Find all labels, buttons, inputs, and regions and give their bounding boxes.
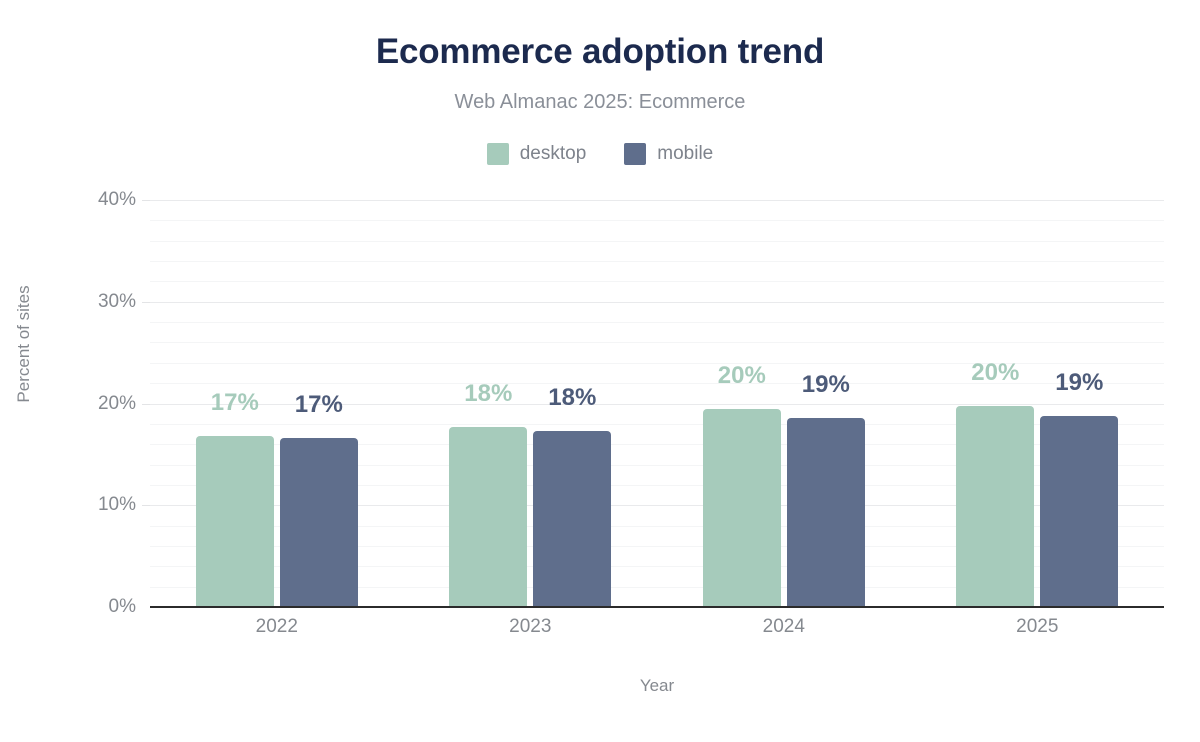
y-tick-label-20: 20% bbox=[26, 393, 136, 415]
bar-desktop-2024[interactable] bbox=[703, 409, 781, 607]
legend-label-mobile: mobile bbox=[657, 143, 713, 165]
bar-mobile-2025[interactable] bbox=[1040, 416, 1118, 607]
x-tick-label-2023: 2023 bbox=[509, 616, 551, 638]
gridline-major-30 bbox=[150, 302, 1164, 303]
bar-mobile-2023[interactable] bbox=[533, 431, 611, 607]
gridline-minor-32 bbox=[150, 281, 1164, 282]
chart-title: Ecommerce adoption trend bbox=[0, 32, 1200, 72]
x-axis-title: Year bbox=[150, 676, 1164, 696]
chart-subtitle: Web Almanac 2025: Ecommerce bbox=[0, 91, 1200, 114]
bar-desktop-2025[interactable] bbox=[956, 406, 1034, 608]
y-tick-label-40: 40% bbox=[26, 189, 136, 211]
gridline-minor-36 bbox=[150, 241, 1164, 242]
y-tick-label-10: 10% bbox=[26, 494, 136, 516]
bar-mobile-2022[interactable] bbox=[280, 438, 358, 607]
y-tick-mark-20 bbox=[142, 404, 150, 405]
bar-value-label-mobile-2025: 19% bbox=[1055, 369, 1103, 397]
y-tick-label-30: 30% bbox=[26, 291, 136, 313]
legend-swatch-desktop bbox=[487, 143, 509, 165]
y-tick-label-0: 0% bbox=[26, 596, 136, 618]
bar-value-label-desktop-2025: 20% bbox=[971, 359, 1019, 387]
x-tick-label-2022: 2022 bbox=[256, 616, 298, 638]
x-axis-line bbox=[150, 606, 1164, 608]
chart-legend: desktopmobile bbox=[0, 143, 1200, 165]
bar-mobile-2024[interactable] bbox=[787, 418, 865, 607]
x-tick-label-2025: 2025 bbox=[1016, 616, 1058, 638]
bar-value-label-desktop-2023: 18% bbox=[464, 380, 512, 408]
x-tick-label-2024: 2024 bbox=[763, 616, 805, 638]
gridline-minor-34 bbox=[150, 261, 1164, 262]
gridline-minor-26 bbox=[150, 342, 1164, 343]
gridline-major-40 bbox=[150, 200, 1164, 201]
y-tick-mark-10 bbox=[142, 505, 150, 506]
y-tick-mark-30 bbox=[142, 302, 150, 303]
legend-item-mobile[interactable]: mobile bbox=[624, 143, 713, 165]
gridline-minor-28 bbox=[150, 322, 1164, 323]
bar-desktop-2022[interactable] bbox=[196, 436, 274, 607]
legend-label-desktop: desktop bbox=[520, 143, 587, 165]
y-tick-mark-40 bbox=[142, 200, 150, 201]
bar-value-label-mobile-2022: 17% bbox=[295, 391, 343, 419]
bar-value-label-mobile-2023: 18% bbox=[548, 384, 596, 412]
legend-swatch-mobile bbox=[624, 143, 646, 165]
legend-item-desktop[interactable]: desktop bbox=[487, 143, 587, 165]
bar-value-label-desktop-2024: 20% bbox=[718, 362, 766, 390]
y-axis-title: Percent of sites bbox=[14, 274, 34, 414]
bar-chart: Ecommerce adoption trend Web Almanac 202… bbox=[0, 0, 1200, 742]
bar-value-label-desktop-2022: 17% bbox=[211, 389, 259, 417]
bar-value-label-mobile-2024: 19% bbox=[802, 371, 850, 399]
bar-desktop-2023[interactable] bbox=[449, 427, 527, 607]
gridline-minor-38 bbox=[150, 220, 1164, 221]
